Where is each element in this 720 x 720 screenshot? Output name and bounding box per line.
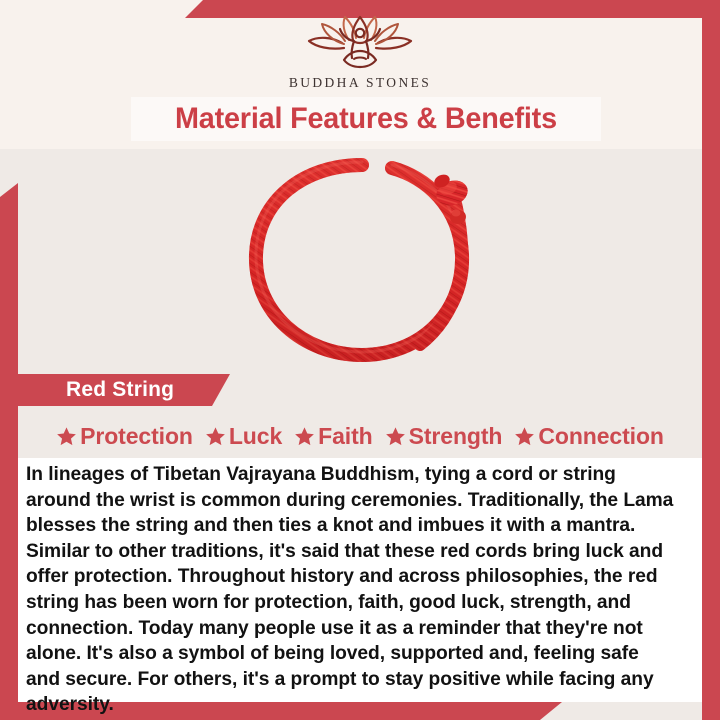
benefit-label: Luck — [229, 423, 282, 450]
benefit-item-connection: Connection — [514, 423, 664, 450]
poster-root: BUDDHA STONES Material Features & Benefi… — [0, 0, 720, 720]
product-label: Red String — [66, 378, 174, 402]
benefit-item-luck: Luck — [205, 423, 291, 450]
benefit-label: Strength — [409, 423, 503, 450]
benefit-label: Protection — [80, 423, 193, 450]
star-icon — [205, 426, 226, 447]
frame-left-bar — [0, 183, 18, 720]
product-image-area — [18, 149, 702, 373]
product-label-bar: Red String — [18, 374, 230, 406]
description-panel: In lineages of Tibetan Vajrayana Buddhis… — [18, 458, 702, 702]
star-icon — [385, 426, 406, 447]
benefit-label: Faith — [318, 423, 372, 450]
benefit-item-faith: Faith — [294, 423, 381, 450]
star-icon — [56, 426, 77, 447]
brand-name: BUDDHA STONES — [0, 76, 720, 90]
title-banner: Material Features & Benefits — [131, 97, 601, 141]
description-text: In lineages of Tibetan Vajrayana Buddhis… — [26, 462, 676, 718]
brand-logo: BUDDHA STONES — [0, 14, 720, 90]
benefit-item-strength: Strength — [385, 423, 512, 450]
star-icon — [514, 426, 535, 447]
benefit-item-protection: Protection — [56, 423, 202, 450]
lotus-meditation-icon — [304, 14, 416, 72]
star-icon — [294, 426, 315, 447]
benefit-label: Connection — [538, 423, 664, 450]
page-title: Material Features & Benefits — [175, 102, 557, 136]
red-string-bracelet-image — [230, 155, 490, 367]
frame-right-bar — [702, 0, 720, 720]
benefits-row: Protection Luck Faith Strength Connectio — [18, 418, 702, 454]
